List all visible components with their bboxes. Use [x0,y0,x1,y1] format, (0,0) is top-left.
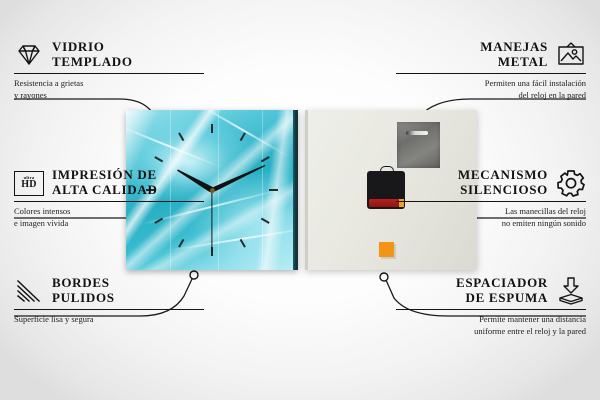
hanger-slot [406,131,428,135]
feature-divider [14,201,204,202]
feature-desc-line1: Las manecillas del reloj [396,206,586,217]
pane-line [218,110,219,270]
feature-header: ultra HD IMPRESIÓN DE ALTA CALIDAD [14,168,204,198]
foam-spacer [379,242,394,257]
feature-description: Colores intensos e imagen vívida [14,206,204,229]
feature-mecanismo-silencioso: MECANISMO SILENCIOSO Las manecillas del … [396,168,586,229]
clock-tick [211,124,213,133]
feature-desc-line1: Colores intensos [14,206,204,217]
feature-header: BORDES PULIDOS [14,276,204,306]
feature-title: BORDES PULIDOS [52,276,115,305]
ultra-hd-big-text: HD [21,180,37,190]
feature-title-line1: MECANISMO [458,168,548,183]
feature-desc-line2: no emiten ningún sonido [396,218,586,229]
feature-desc-line2: e imagen vívida [14,218,204,229]
feature-header: ESPACIADOR DE ESPUMA [396,276,586,306]
feature-desc-line2: del reloj en la pared [396,90,586,101]
foam-spacer-arrow-icon [556,276,586,306]
feature-espaciador-espuma: ESPACIADOR DE ESPUMA Permite mantener un… [396,276,586,337]
feature-impresion-alta-calidad: ultra HD IMPRESIÓN DE ALTA CALIDAD Color… [14,168,204,229]
feature-description: Superficie lisa y segura [14,314,204,325]
ultra-hd-icon: ultra HD [14,168,44,198]
feature-title-line2: METAL [480,55,548,70]
feature-description: Permite mantener una distancia uniforme … [396,314,586,337]
feature-title: IMPRESIÓN DE ALTA CALIDAD [52,168,158,197]
feature-header: MANEJAS METAL [396,40,586,70]
feature-title: ESPACIADOR DE ESPUMA [456,276,548,305]
feature-manejas-metal: MANEJAS METAL Permiten una fácil instala… [396,40,586,101]
feature-divider [396,73,586,74]
feature-divider [14,73,204,74]
feature-vidrio-templado: VIDRIO TEMPLADO Resistencia a grietas y … [14,40,204,101]
metal-hanger-plate [397,122,440,168]
feature-title-line2: DE ESPUMA [456,291,548,306]
feature-desc-line1: Permite mantener una distancia [396,314,586,325]
feature-title-line2: ALTA CALIDAD [52,183,158,198]
feature-title: MECANISMO SILENCIOSO [458,168,548,197]
feature-title: VIDRIO TEMPLADO [52,40,133,69]
gear-icon [556,168,586,198]
feature-desc-line1: Permiten una fácil instalación [396,78,586,89]
feature-title-line1: ESPACIADOR [456,276,548,291]
feature-title-line2: PULIDOS [52,291,115,306]
clock-tick [269,189,278,191]
feature-title-line1: IMPRESIÓN DE [52,168,158,183]
feature-title: MANEJAS METAL [480,40,548,69]
pane-line [262,110,263,270]
feature-title-line1: VIDRIO [52,40,133,55]
picture-frame-hanger-icon [556,40,586,70]
feature-divider [396,201,586,202]
feature-title-line2: TEMPLADO [52,55,133,70]
feature-description: Las manecillas del reloj no emiten ningú… [396,206,586,229]
feature-desc-line1: Superficie lisa y segura [14,314,204,325]
polished-edge-icon [14,276,44,306]
feature-divider [14,309,204,310]
feature-title-line1: MANEJAS [480,40,548,55]
feature-title-line2: SILENCIOSO [458,183,548,198]
connector-dot-espaciador [380,273,388,281]
feature-desc-line2: uniforme entre el reloj y la pared [396,326,586,337]
feature-header: VIDRIO TEMPLADO [14,40,204,70]
feature-desc-line1: Resistencia a grietas [14,78,204,89]
clock-side-edge [293,110,298,270]
back-panel-edge [305,110,308,270]
ultra-hd-badge: ultra HD [14,171,44,196]
clock-center-cap [210,188,215,193]
feature-header: MECANISMO SILENCIOSO [396,168,586,198]
feature-desc-line2: y rayones [14,90,204,101]
feature-description: Resistencia a grietas y rayones [14,78,204,101]
mechanism-handle [380,166,394,174]
product-infographic: VIDRIO TEMPLADO Resistencia a grietas y … [0,0,600,400]
feature-title-line1: BORDES [52,276,115,291]
diamond-icon [14,40,44,70]
feature-bordes-pulidos: BORDES PULIDOS Superficie lisa y segura [14,276,204,326]
feature-divider [396,309,586,310]
feature-description: Permiten una fácil instalación del reloj… [396,78,586,101]
